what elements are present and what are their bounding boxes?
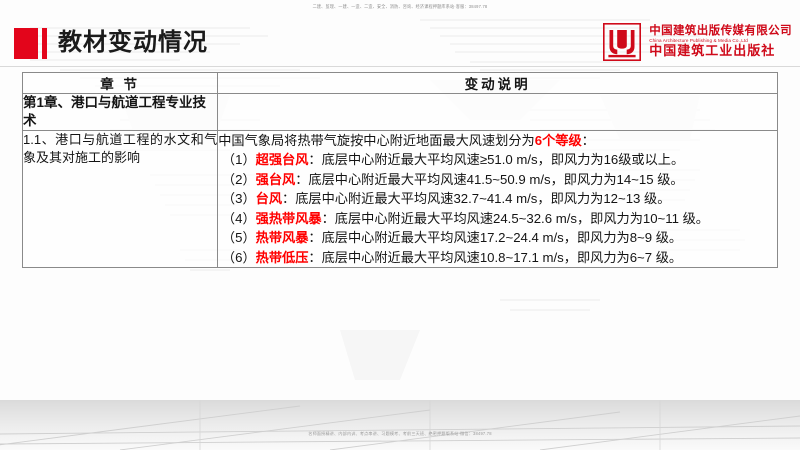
column-header-chapter: 章 节 <box>23 73 218 94</box>
item-term: 热带风暴 <box>256 230 309 245</box>
item-term: 强热带风暴 <box>256 211 322 226</box>
item-number: （4） <box>222 211 256 226</box>
table-row: 第1章、港口与航道工程专业技术 <box>23 94 778 131</box>
description-intro: 中国气象局将热带气旋按中心附近地面最大风速划分为6个等级： <box>218 131 777 151</box>
item-number: （2） <box>222 172 256 187</box>
publisher-logo-text: 中国建筑出版传媒有限公司 China Architecture Publishi… <box>649 25 792 59</box>
publisher-press-cn: 中国建筑工业出版社 <box>649 44 792 59</box>
bottom-band-lines <box>0 400 800 450</box>
item-term: 超强台风 <box>256 152 309 167</box>
list-item: （2）强台风：底层中心附近最大平均风速41.5~50.9 m/s，即风力为14~… <box>218 170 777 190</box>
item-text: ：底层中心附近最大平均风速32.7~41.4 m/s，即风力为12~13 级。 <box>282 191 670 206</box>
list-item: （6）热带低压：底层中心附近最大平均风速10.8~17.1 m/s，即风力为6~… <box>218 248 777 268</box>
column-header-description: 变动说明 <box>218 73 778 94</box>
table-row: 1.1、港口与航道工程的水文和气象及其对施工的影响 中国气象局将热带气旋按中心附… <box>23 130 778 268</box>
table-header-row: 章 节 变动说明 <box>23 73 778 94</box>
item-text: ：底层中心附近最大平均风速24.5~32.6 m/s，即风力为10~11 级。 <box>322 211 709 226</box>
publisher-company-cn: 中国建筑出版传媒有限公司 <box>649 25 792 38</box>
title-block: 教材变动情况 <box>14 26 208 60</box>
list-item: （4）强热带风暴：底层中心附近最大平均风速24.5~32.6 m/s，即风力为1… <box>218 209 777 229</box>
item-number: （6） <box>222 250 256 265</box>
intro-suffix: ： <box>582 133 595 148</box>
intro-highlight: 6个等级 <box>535 133 582 148</box>
list-item: （3）台风：底层中心附近最大平均风速32.7~41.4 m/s，即风力为12~1… <box>218 189 777 209</box>
item-text: ：底层中心附近最大平均风速10.8~17.1 m/s，即风力为6~7 级。 <box>308 250 682 265</box>
change-table: 章 节 变动说明 第1章、港口与航道工程专业技术 1.1、港口与航道工程的水文和… <box>22 72 778 268</box>
page-title: 教材变动情况 <box>58 31 208 55</box>
item-text: ：底层中心附近最大平均风速41.5~50.9 m/s，即风力为14~15 级。 <box>295 172 683 187</box>
change-description-cell: 中国气象局将热带气旋按中心附近地面最大风速划分为6个等级： （1）超强台风：底层… <box>218 130 778 268</box>
slide-header: 教材变动情况 中国建筑出版传媒有限公司 China Architecture P… <box>0 14 800 67</box>
item-text: ：底层中心附近最大平均风速17.2~24.4 m/s，即风力为8~9 级。 <box>308 230 682 245</box>
item-text: ：底层中心附近最大平均风速≥51.0 m/s，即风力为16级或以上。 <box>308 152 684 167</box>
intro-prefix: 中国气象局将热带气旋按中心附近地面最大风速划分为 <box>218 133 535 148</box>
item-term: 台风 <box>256 191 282 206</box>
item-number: （5） <box>222 230 256 245</box>
sub-chapter-cell: 1.1、港口与航道工程的水文和气象及其对施工的影响 <box>23 130 218 268</box>
publisher-logo-icon <box>603 23 641 61</box>
item-term: 强台风 <box>256 172 296 187</box>
list-item: （1）超强台风：底层中心附近最大平均风速≥51.0 m/s，即风力为16级或以上… <box>218 150 777 170</box>
slide-root: 二建、监理、一建、一造、二造、安全、消防、咨询、经济课程押题库系站·客服：384… <box>0 0 800 450</box>
bottom-band: 名师面授精讲、内部内训、考点串讲、习题模考、考前三天班、绝密押题版系站·微信：3… <box>0 400 800 450</box>
header-divider <box>0 66 800 67</box>
chapter-description-cell <box>218 94 778 131</box>
bottom-banner-text: 名师面授精讲、内部内训、考点串讲、习题模考、考前三天班、绝密押题版系站·微信：3… <box>0 431 800 437</box>
list-item: （5）热带风暴：底层中心附近最大平均风速17.2~24.4 m/s，即风力为8~… <box>218 228 777 248</box>
publisher-logo: 中国建筑出版传媒有限公司 China Architecture Publishi… <box>603 23 792 61</box>
red-bar-accent <box>42 28 47 59</box>
item-number: （1） <box>222 152 256 167</box>
top-banner: 二建、监理、一建、一造、二造、安全、消防、咨询、经济课程押题库系站·客服：384… <box>0 0 800 14</box>
chapter-title-cell: 第1章、港口与航道工程专业技术 <box>23 94 218 131</box>
red-square-accent <box>14 28 38 59</box>
item-number: （3） <box>222 191 256 206</box>
change-table-wrapper: 章 节 变动说明 第1章、港口与航道工程专业技术 1.1、港口与航道工程的水文和… <box>22 72 778 268</box>
top-banner-text: 二建、监理、一建、一造、二造、安全、消防、咨询、经济课程押题库系站·客服：384… <box>313 4 488 10</box>
item-term: 热带低压 <box>256 250 309 265</box>
